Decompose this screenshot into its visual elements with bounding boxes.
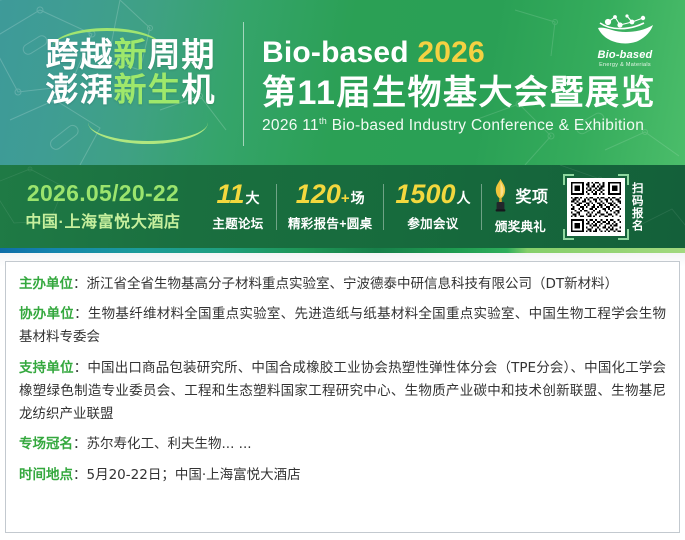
award-title: 奖项 xyxy=(515,183,548,207)
stat-number-attendees: 1500人 xyxy=(395,181,470,208)
slogan-l2-c: 生 xyxy=(148,71,182,108)
title-en-main: Bio-based xyxy=(262,36,409,69)
title-en-sub-pre: 2026 11 xyxy=(262,118,319,135)
detail-value: 苏尔寿化工、利夫生物... ... xyxy=(87,436,252,452)
event-details-card: 主办单位：浙江省全省生物基高分子材料重点实验室、宁波德泰中研信息科技有限公司（D… xyxy=(5,261,680,533)
qr-corner-bottom-right xyxy=(618,229,629,240)
qr-corner-bottom-left xyxy=(563,229,574,240)
title-en-year: 2026 xyxy=(417,36,485,69)
stat-unit: 人 xyxy=(456,190,470,206)
trophy-icon xyxy=(492,178,509,212)
bio-based-logo: Bio-based Energy & Materials xyxy=(579,14,671,68)
stat-unit: 场 xyxy=(351,190,365,206)
event-stats-bar: 2026.05/20-22 中国·上海富悦大酒店 11大 主题论坛 120+场 … xyxy=(0,165,685,248)
detail-row-co-organizer: 协办单位：生物基纤维材料全国重点实验室、先进造纸与纸基材料全国重点实验室、中国生… xyxy=(19,303,666,349)
detail-row-time-place: 时间地点：5月20-22日；中国·上海富悦大酒店 xyxy=(19,464,666,487)
slogan-swoosh-bottom-decor xyxy=(88,118,208,144)
bio-based-leaf-logo-icon xyxy=(594,14,656,48)
stat-value: 11 xyxy=(216,179,244,209)
logo-tagline: Energy & Materials xyxy=(579,62,671,68)
detail-colon: ： xyxy=(73,467,87,483)
stat-caption-forums: 主题论坛 xyxy=(211,213,265,232)
detail-label: 协办单位 xyxy=(19,306,74,322)
title-english-secondary: 2026 11th Bio-based Industry Conference … xyxy=(262,116,656,135)
event-date: 2026.05/20-22 xyxy=(6,181,200,206)
detail-value: 浙江省全省生物基高分子材料重点实验室、宁波德泰中研信息科技有限公司（DT新材料） xyxy=(87,276,619,292)
award-ceremony-block: 奖项 颁奖典礼 xyxy=(482,178,558,235)
slogan-l2-b: 新 xyxy=(114,71,148,108)
slogan-line-1: 跨越新周期 xyxy=(28,38,233,73)
stat-number-forums: 11大 xyxy=(211,181,265,208)
stat-item-attendees: 1500人 参加会议 xyxy=(384,181,481,232)
logo-wordmark: Bio-based xyxy=(579,49,671,61)
detail-row-session-sponsor: 专场冠名：苏尔寿化工、利夫生物... ... xyxy=(19,433,666,456)
detail-colon: ： xyxy=(73,276,87,292)
stat-item-reports: 120+场 精彩报告+圆桌 xyxy=(277,181,383,232)
banner-vertical-divider xyxy=(243,22,244,146)
detail-row-supporter: 支持单位：中国出口商品包装研究所、中国合成橡胶工业协会热塑性弹性体分会（TPE分… xyxy=(19,357,666,427)
stat-unit: 大 xyxy=(246,190,260,206)
page-root: 跨越新周期 澎湃新生机 Bio-based 2026 第11届生物基大会暨展览 … xyxy=(0,0,685,540)
title-chinese: 第11届生物基大会暨展览 xyxy=(262,75,656,112)
slogan-l1-b: 新 xyxy=(114,36,148,73)
stat-number-reports: 120+场 xyxy=(288,181,372,208)
stat-item-forums: 11大 主题论坛 xyxy=(200,181,276,232)
award-row: 奖项 xyxy=(492,178,548,212)
detail-label: 支持单位 xyxy=(19,360,74,376)
banner-slogan: 跨越新周期 澎湃新生机 xyxy=(28,38,233,108)
event-banner: 跨越新周期 澎湃新生机 Bio-based 2026 第11届生物基大会暨展览 … xyxy=(0,0,685,165)
detail-value: 中国出口商品包装研究所、中国合成橡胶工业协会热塑性弹性体分会（TPE分会）、中国… xyxy=(19,360,666,422)
detail-colon: ： xyxy=(74,306,88,322)
stat-plus: + xyxy=(341,190,350,207)
title-en-sub-post: Bio-based Industry Conference & Exhibiti… xyxy=(327,118,644,135)
stat-value: 120 xyxy=(296,179,341,209)
detail-row-organizer: 主办单位：浙江省全省生物基高分子材料重点实验室、宁波德泰中研信息科技有限公司（D… xyxy=(19,273,666,296)
qr-registration-block[interactable]: 扫码报名 xyxy=(567,178,643,236)
detail-colon: ： xyxy=(74,360,88,376)
slogan-l2-a: 澎湃 xyxy=(46,71,114,108)
event-venue: 中国·上海富悦大酒店 xyxy=(6,208,200,232)
stat-caption-attendees: 参加会议 xyxy=(395,213,470,232)
slogan-l1-c: 周期 xyxy=(148,36,216,73)
content-wrapper: 主办单位：浙江省全省生物基高分子材料重点实验室、宁波德泰中研信息科技有限公司（D… xyxy=(0,253,685,533)
detail-colon: ： xyxy=(73,436,87,452)
title-en-sub-sup: th xyxy=(319,116,327,126)
stat-value: 1500 xyxy=(395,179,455,209)
detail-value: 生物基纤维材料全国重点实验室、先进造纸与纸基材料全国重点实验室、中国生物工程学会… xyxy=(19,306,666,345)
detail-label: 主办单位 xyxy=(19,276,73,292)
detail-value: 5月20-22日；中国·上海富悦大酒店 xyxy=(87,467,301,483)
slogan-l2-d: 机 xyxy=(182,71,216,108)
qr-code-icon[interactable] xyxy=(567,178,625,236)
slogan-line-2: 澎湃新生机 xyxy=(28,73,233,108)
slogan-l1-a: 跨越 xyxy=(46,36,114,73)
stat-caption-reports: 精彩报告+圆桌 xyxy=(288,213,372,232)
detail-label: 专场冠名 xyxy=(19,436,73,452)
qr-scan-label: 扫码报名 xyxy=(630,182,643,232)
qr-corner-top-right xyxy=(618,174,629,185)
detail-label: 时间地点 xyxy=(19,467,73,483)
qr-corner-top-left xyxy=(563,174,574,185)
event-date-location: 2026.05/20-22 中国·上海富悦大酒店 xyxy=(0,181,200,232)
award-caption: 颁奖典礼 xyxy=(495,216,546,235)
qr-code-matrix xyxy=(569,180,623,234)
